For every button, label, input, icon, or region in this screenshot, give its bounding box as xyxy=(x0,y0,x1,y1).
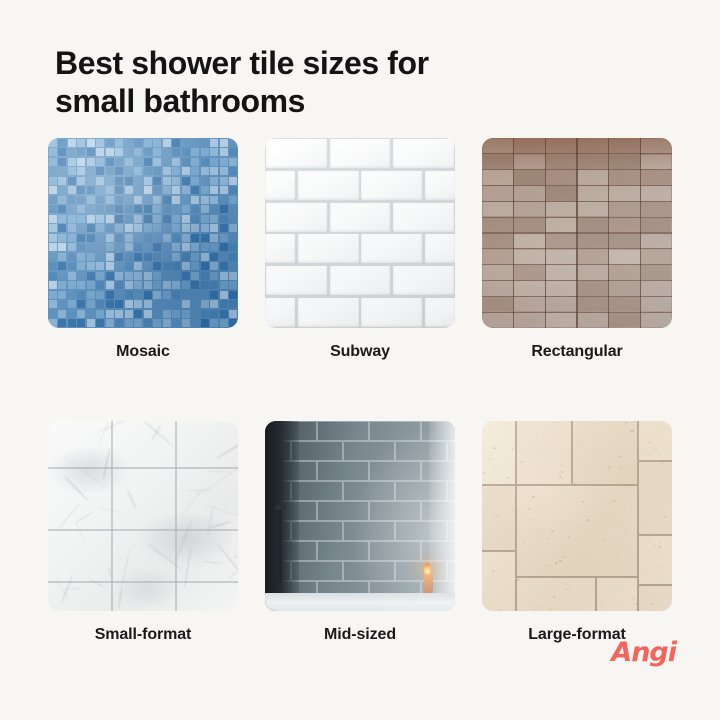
travertine-fleck xyxy=(649,535,651,536)
mosaic-tile xyxy=(163,300,171,308)
mosaic-tile xyxy=(201,310,209,318)
mosaic-tile xyxy=(182,253,190,261)
rectangular-tile xyxy=(609,281,639,295)
tile-card-large-format[interactable]: Large-format xyxy=(482,421,672,644)
rectangular-tile xyxy=(514,281,544,295)
mosaic-tile xyxy=(96,319,104,327)
mosaic-tile xyxy=(144,167,152,175)
mosaic-tile xyxy=(106,167,114,175)
travertine-fleck xyxy=(569,493,570,494)
rectangular-tile xyxy=(609,297,639,311)
travertine-fleck xyxy=(658,469,659,470)
rectangular-tile xyxy=(514,155,544,169)
travertine-fleck xyxy=(528,508,530,510)
marble-grout-line xyxy=(48,529,238,531)
mosaic-tile xyxy=(125,158,133,166)
travertine-fleck xyxy=(586,519,589,521)
angi-logo[interactable]: Angi xyxy=(611,637,676,668)
travertine-fleck xyxy=(561,471,563,472)
mosaic-tile xyxy=(172,186,180,194)
mosaic-tile xyxy=(201,215,209,223)
travertine-slab xyxy=(482,551,516,611)
mosaic-tile xyxy=(115,310,123,318)
tile-swatch-small-format xyxy=(48,421,238,611)
mosaic-tile xyxy=(229,281,237,289)
mosaic-tile xyxy=(220,234,228,242)
mosaic-tile xyxy=(191,196,199,204)
travertine-fleck xyxy=(510,436,511,437)
rectangular-tile xyxy=(609,250,639,264)
tile-row-bottom: Small-format Mid-sized xyxy=(48,421,672,644)
mosaic-tile xyxy=(153,300,161,308)
travertine-fleck xyxy=(655,448,657,450)
mosaic-tile xyxy=(191,215,199,223)
mosaic-tile xyxy=(229,224,237,232)
rectangular-tile xyxy=(578,139,608,153)
tile-label-small-format: Small-format xyxy=(48,626,238,644)
mosaic-tile xyxy=(163,234,171,242)
mosaic-tile xyxy=(77,253,85,261)
mosaic-tile xyxy=(125,262,133,270)
mosaic-tile xyxy=(163,272,171,280)
mosaic-tile xyxy=(220,253,228,261)
mosaic-tile xyxy=(49,291,57,299)
mosaic-tile xyxy=(58,291,66,299)
infographic-canvas: Best shower tile sizes for small bathroo… xyxy=(0,0,720,720)
mosaic-tile xyxy=(201,243,209,251)
mosaic-tile xyxy=(96,196,104,204)
subway-tile xyxy=(425,234,455,263)
mosaic-tile xyxy=(115,281,123,289)
mosaic-tile xyxy=(220,319,228,327)
mosaic-tile xyxy=(58,310,66,318)
rectangular-tile xyxy=(609,139,639,153)
mosaic-tile xyxy=(87,177,95,185)
mosaic-tile xyxy=(229,177,237,185)
mosaic-tile xyxy=(210,205,218,213)
mosaic-tile xyxy=(106,139,114,147)
travertine-fleck xyxy=(624,498,626,499)
mosaic-tile xyxy=(210,148,218,156)
mosaic-tile xyxy=(210,272,218,280)
mosaic-tile xyxy=(134,243,142,251)
mosaic-tile xyxy=(77,291,85,299)
candle-flame-icon xyxy=(424,563,431,575)
rectangular-tile xyxy=(641,186,671,200)
rectangular-tile xyxy=(641,170,671,184)
mosaic-tile xyxy=(220,186,228,194)
travertine-fleck xyxy=(601,606,603,607)
mosaic-tile xyxy=(172,319,180,327)
mosaic-tile xyxy=(96,186,104,194)
mosaic-tile xyxy=(106,272,114,280)
tile-card-small-format[interactable]: Small-format xyxy=(48,421,238,644)
mosaic-tile xyxy=(58,215,66,223)
mosaic-tile xyxy=(163,139,171,147)
travertine-fleck xyxy=(653,596,655,597)
mosaic-tile xyxy=(134,148,142,156)
mosaic-tile xyxy=(77,205,85,213)
tile-card-subway[interactable]: Subway xyxy=(265,138,455,361)
mosaic-tile xyxy=(163,167,171,175)
mosaic-tile xyxy=(125,148,133,156)
mosaic-tile xyxy=(106,148,114,156)
rectangular-tile xyxy=(641,265,671,279)
travertine-fleck xyxy=(623,520,624,521)
mosaic-tile xyxy=(96,262,104,270)
rectangular-grout-line xyxy=(482,217,672,218)
rectangular-tile xyxy=(609,234,639,248)
tile-swatch-large-format xyxy=(482,421,672,611)
rectangular-tile xyxy=(546,297,576,311)
travertine-fleck xyxy=(513,511,516,513)
mosaic-tile xyxy=(49,177,57,185)
subway-tile xyxy=(425,171,455,200)
mosaic-tile xyxy=(87,167,95,175)
mosaic-tile xyxy=(220,291,228,299)
travertine-fleck xyxy=(559,560,561,562)
rectangular-tile xyxy=(514,297,544,311)
mosaic-tile xyxy=(134,167,142,175)
mosaic-tile xyxy=(229,319,237,327)
mosaic-tile xyxy=(49,215,57,223)
mosaic-tile xyxy=(58,281,66,289)
mosaic-tile xyxy=(87,272,95,280)
mosaic-tile xyxy=(134,196,142,204)
mosaic-tile xyxy=(115,158,123,166)
mosaic-tile xyxy=(134,186,142,194)
rectangular-tile xyxy=(609,186,639,200)
subway-tile xyxy=(361,171,422,200)
mosaic-tile xyxy=(115,196,123,204)
tile-label-rectangular: Rectangular xyxy=(482,343,672,361)
tile-row-top: Mosaic Subway Rectangular xyxy=(48,138,672,361)
travertine-fleck xyxy=(551,530,554,532)
mosaic-tile xyxy=(172,300,180,308)
mosaic-tile xyxy=(77,272,85,280)
mosaic-tile xyxy=(172,224,180,232)
mosaic-tile xyxy=(115,139,123,147)
rectangular-tile xyxy=(641,281,671,295)
rectangular-tile xyxy=(578,202,608,216)
mosaic-tile xyxy=(210,186,218,194)
mosaic-tile xyxy=(87,234,95,242)
mosaic-tile xyxy=(87,196,95,204)
mosaic-tile xyxy=(163,243,171,251)
shower-corner-shadow xyxy=(265,421,299,611)
mosaic-tile xyxy=(125,205,133,213)
mosaic-tile xyxy=(49,253,57,261)
subway-tile xyxy=(266,139,327,168)
rectangular-tile xyxy=(546,281,576,295)
mosaic-tile xyxy=(96,310,104,318)
mosaic-tile xyxy=(96,167,104,175)
rectangular-grout-line xyxy=(482,248,672,249)
mosaic-tile xyxy=(87,253,95,261)
mosaic-tile xyxy=(182,234,190,242)
rectangular-tile xyxy=(514,250,544,264)
mosaic-tile xyxy=(49,205,57,213)
mosaic-tile xyxy=(58,319,66,327)
rectangular-tile xyxy=(514,139,544,153)
travertine-slab xyxy=(572,421,638,485)
travertine-slab xyxy=(516,577,596,611)
mosaic-tile xyxy=(106,186,114,194)
mosaic-tile xyxy=(87,148,95,156)
mosaic-tile xyxy=(191,262,199,270)
travertine-fleck xyxy=(550,436,551,437)
mosaic-tile xyxy=(201,158,209,166)
subway-tile xyxy=(361,298,422,327)
mosaic-tile xyxy=(115,234,123,242)
shower-wall-tile xyxy=(317,541,369,561)
mosaic-tile xyxy=(125,319,133,327)
mosaic-tile xyxy=(210,253,218,261)
mosaic-tile xyxy=(96,139,104,147)
travertine-fleck xyxy=(545,565,547,566)
travertine-slab xyxy=(516,485,638,577)
mosaic-tile xyxy=(229,205,237,213)
mosaic-tile xyxy=(220,167,228,175)
mosaic-tile xyxy=(172,243,180,251)
shower-wall-tile xyxy=(317,421,369,441)
travertine-slab xyxy=(638,461,672,535)
mosaic-tile xyxy=(172,196,180,204)
travertine-fleck xyxy=(659,542,661,543)
mosaic-tile xyxy=(125,139,133,147)
mosaic-tile xyxy=(49,243,57,251)
mosaic-tile xyxy=(49,310,57,318)
mosaic-tile xyxy=(144,196,152,204)
mosaic-tile xyxy=(229,272,237,280)
rectangular-tile xyxy=(514,218,544,232)
travertine-fleck xyxy=(630,430,633,432)
subway-tile xyxy=(361,234,422,263)
mosaic-tile xyxy=(201,177,209,185)
rectangular-tile xyxy=(483,186,513,200)
mosaic-tile xyxy=(153,139,161,147)
rectangular-tile xyxy=(609,155,639,169)
mosaic-tile xyxy=(96,281,104,289)
mosaic-tile xyxy=(210,234,218,242)
mosaic-tile xyxy=(182,205,190,213)
mosaic-tile xyxy=(115,215,123,223)
mosaic-tile xyxy=(68,177,76,185)
travertine-fleck xyxy=(498,515,499,516)
subway-tile xyxy=(265,234,295,263)
mosaic-tile xyxy=(172,139,180,147)
mosaic-tile xyxy=(96,215,104,223)
mosaic-tile xyxy=(106,300,114,308)
rectangular-tile xyxy=(514,202,544,216)
mosaic-tile xyxy=(77,281,85,289)
rectangular-tile xyxy=(609,265,639,279)
mosaic-tile xyxy=(210,281,218,289)
rectangular-tile xyxy=(514,234,544,248)
mosaic-tile xyxy=(172,167,180,175)
mosaic-tile xyxy=(96,272,104,280)
mosaic-tile xyxy=(125,167,133,175)
shower-wall-tile xyxy=(369,501,421,521)
mosaic-tile xyxy=(115,319,123,327)
mosaic-tile xyxy=(201,205,209,213)
mosaic-tile xyxy=(182,196,190,204)
mosaic-tile xyxy=(153,253,161,261)
mosaic-tile xyxy=(134,319,142,327)
mosaic-tile xyxy=(115,291,123,299)
mosaic-tile xyxy=(172,234,180,242)
rectangular-tile xyxy=(578,250,608,264)
mosaic-tile xyxy=(49,272,57,280)
mosaic-tile xyxy=(68,291,76,299)
mosaic-tile xyxy=(77,243,85,251)
subway-tile xyxy=(393,266,454,295)
shower-wall-tile xyxy=(369,421,421,441)
tile-card-mosaic[interactable]: Mosaic xyxy=(48,138,238,361)
mosaic-tile xyxy=(191,139,199,147)
travertine-fleck xyxy=(492,570,495,572)
mosaic-tile xyxy=(191,186,199,194)
rectangular-tile xyxy=(641,202,671,216)
mosaic-tile xyxy=(87,310,95,318)
rectangular-tile xyxy=(609,202,639,216)
rectangular-grout-line xyxy=(482,232,672,233)
mosaic-tile xyxy=(68,186,76,194)
mosaic-tile xyxy=(153,167,161,175)
mosaic-tile xyxy=(134,310,142,318)
travertine-slab xyxy=(638,585,672,611)
mosaic-tile xyxy=(58,243,66,251)
rectangular-tile xyxy=(578,265,608,279)
mosaic-tile xyxy=(134,158,142,166)
travertine-fleck xyxy=(493,447,495,449)
mosaic-tile xyxy=(134,177,142,185)
tile-grid: Mosaic Subway Rectangular xyxy=(48,138,672,644)
mosaic-tile xyxy=(134,262,142,270)
rectangular-tile xyxy=(483,139,513,153)
travertine-fleck xyxy=(559,476,561,478)
mosaic-tile xyxy=(77,177,85,185)
rectangular-tile xyxy=(609,313,639,327)
mosaic-tile xyxy=(77,300,85,308)
tile-swatch-mosaic xyxy=(48,138,238,328)
mosaic-tile xyxy=(182,291,190,299)
subway-tile xyxy=(393,203,454,232)
shower-fixture-icon xyxy=(279,509,282,583)
mosaic-tile xyxy=(144,319,152,327)
rectangular-tile xyxy=(578,170,608,184)
shower-wall-tile xyxy=(317,461,369,481)
shower-wall-tile xyxy=(343,481,395,501)
rectangular-tile xyxy=(641,139,671,153)
mosaic-tile xyxy=(77,148,85,156)
mosaic-tile xyxy=(134,215,142,223)
mosaic-tile xyxy=(115,272,123,280)
bathtub-edge xyxy=(265,593,455,611)
mosaic-tile xyxy=(153,310,161,318)
mosaic-tile xyxy=(96,205,104,213)
mosaic-tile xyxy=(144,224,152,232)
mosaic-tile xyxy=(77,196,85,204)
mosaic-tile xyxy=(144,281,152,289)
mosaic-tile xyxy=(87,224,95,232)
rectangular-tile xyxy=(546,265,576,279)
mosaic-tile xyxy=(144,234,152,242)
mosaic-tile xyxy=(229,291,237,299)
mosaic-tile xyxy=(134,272,142,280)
subway-tile xyxy=(330,139,391,168)
mosaic-tile xyxy=(68,262,76,270)
mosaic-tile xyxy=(191,177,199,185)
mosaic-tile xyxy=(163,196,171,204)
mosaic-tile xyxy=(163,148,171,156)
mosaic-tile xyxy=(58,300,66,308)
mosaic-tile xyxy=(96,148,104,156)
subway-tile xyxy=(265,298,295,327)
rectangular-tile xyxy=(641,250,671,264)
mosaic-tile xyxy=(144,158,152,166)
mosaic-tile xyxy=(229,186,237,194)
rectangular-tile xyxy=(641,234,671,248)
mosaic-tile xyxy=(125,243,133,251)
mosaic-tile xyxy=(210,167,218,175)
shower-wall-tile xyxy=(369,541,421,561)
mosaic-tile xyxy=(201,234,209,242)
mosaic-tile xyxy=(58,234,66,242)
tile-card-mid-sized[interactable]: Mid-sized xyxy=(265,421,455,644)
rectangular-tile xyxy=(483,250,513,264)
mosaic-tile xyxy=(220,215,228,223)
mosaic-tile xyxy=(134,205,142,213)
travertine-slab xyxy=(638,535,672,585)
mosaic-tile xyxy=(77,158,85,166)
mosaic-tile xyxy=(210,158,218,166)
mosaic-tile xyxy=(106,158,114,166)
mosaic-tile xyxy=(68,243,76,251)
mosaic-tile xyxy=(191,243,199,251)
mosaic-tile xyxy=(77,319,85,327)
mosaic-tile xyxy=(106,234,114,242)
mosaic-tile xyxy=(201,319,209,327)
travertine-fleck xyxy=(540,531,542,532)
tile-card-rectangular[interactable]: Rectangular xyxy=(482,138,672,361)
rectangular-grout-line xyxy=(482,185,672,186)
rectangular-tile xyxy=(609,218,639,232)
mosaic-tile xyxy=(182,272,190,280)
mosaic-tile xyxy=(201,148,209,156)
mosaic-tile xyxy=(125,186,133,194)
mosaic-tile xyxy=(134,281,142,289)
mosaic-tile xyxy=(106,319,114,327)
mosaic-tile xyxy=(134,139,142,147)
mosaic-tile xyxy=(115,224,123,232)
mosaic-tile xyxy=(220,139,228,147)
mosaic-tile xyxy=(115,300,123,308)
mosaic-tile xyxy=(172,291,180,299)
mosaic-tile xyxy=(106,253,114,261)
mosaic-tile xyxy=(220,224,228,232)
mosaic-tile xyxy=(182,262,190,270)
rectangular-tile xyxy=(483,155,513,169)
rectangular-tile xyxy=(514,170,544,184)
tile-label-mid-sized: Mid-sized xyxy=(265,626,455,644)
mosaic-tile xyxy=(115,262,123,270)
mosaic-tile xyxy=(49,300,57,308)
mosaic-tile xyxy=(172,272,180,280)
rectangular-tile xyxy=(546,139,576,153)
travertine-fleck xyxy=(578,471,580,472)
travertine-fleck xyxy=(555,562,558,564)
